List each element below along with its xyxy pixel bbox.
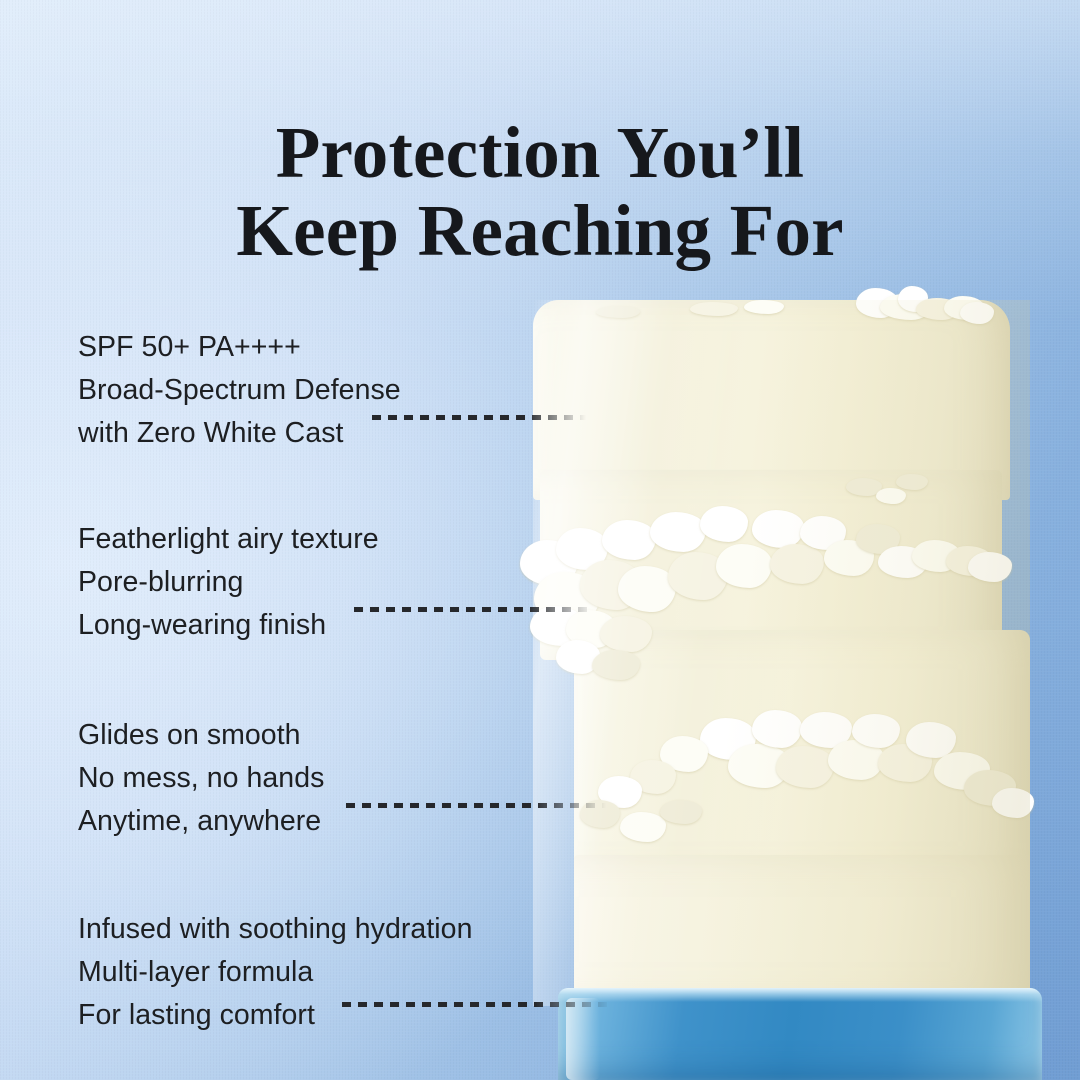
feature-block-texture-finish: Featherlight airy texture Pore-blurring … (78, 518, 379, 647)
feature-line: Broad-Spectrum Defense (78, 369, 401, 412)
feature-line: Multi-layer formula (78, 951, 472, 994)
feature-line: SPF 50+ PA++++ (78, 326, 401, 369)
leader-line-texture-finish (354, 607, 594, 612)
feature-block-application: Glides on smooth No mess, no hands Anyti… (78, 714, 324, 843)
product-feature-poster: Protection You’ll Keep Reaching For SPF … (0, 0, 1080, 1080)
feature-line: No mess, no hands (78, 757, 324, 800)
feature-line-with-leader: For lasting comfort (78, 994, 472, 1037)
feature-line: Long-wearing finish (78, 604, 326, 647)
feature-line: Featherlight airy texture (78, 518, 379, 561)
leader-line-application (346, 803, 606, 808)
leader-line-spf-protection (372, 415, 586, 420)
feature-block-hydration: Infused with soothing hydration Multi-la… (78, 908, 472, 1037)
headline: Protection You’ll Keep Reaching For (0, 113, 1080, 272)
feature-line-with-leader: with Zero White Cast (78, 412, 401, 455)
feature-line-with-leader: Anytime, anywhere (78, 800, 324, 843)
feature-line: with Zero White Cast (78, 412, 344, 455)
feature-line: Infused with soothing hydration (78, 908, 472, 951)
feature-line: Pore-blurring (78, 561, 379, 604)
feature-line: Anytime, anywhere (78, 800, 321, 843)
feature-line: Glides on smooth (78, 714, 324, 757)
feature-line: For lasting comfort (78, 994, 315, 1037)
headline-line-2: Keep Reaching For (70, 191, 1010, 271)
headline-line-1: Protection You’ll (70, 113, 1010, 193)
feature-line-with-leader: Long-wearing finish (78, 604, 379, 647)
feature-block-spf-protection: SPF 50+ PA++++ Broad-Spectrum Defense wi… (78, 326, 401, 455)
